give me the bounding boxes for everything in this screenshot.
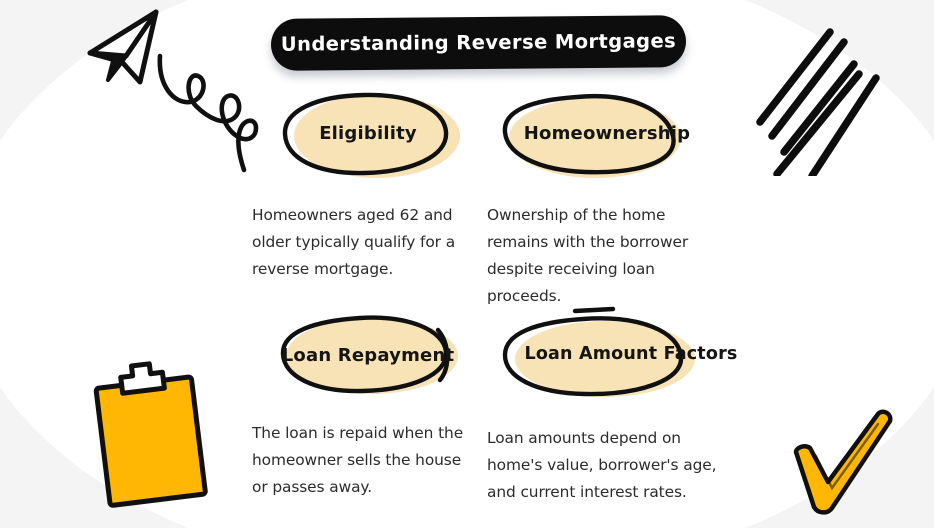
infographic-canvas: Understanding Reverse Mortgages Eligibil… [0, 0, 934, 528]
card-homeownership[interactable]: Homeownership Ownership of the home rema… [487, 88, 727, 310]
card-body: Loan amounts depend on home's value, bor… [487, 425, 727, 506]
page-title: Understanding Reverse Mortgages [271, 17, 686, 69]
title-pill: Understanding Reverse Mortgages [271, 15, 686, 71]
card-loan-repayment[interactable]: Loan Repayment The loan is repaid when t… [252, 310, 484, 501]
card-loan-amount-factors[interactable]: Loan Amount Factors Loan amounts depend … [487, 305, 727, 506]
bubble-loan-repayment[interactable]: Loan Repayment [252, 310, 484, 402]
card-grid: Eligibility Homeowners aged 62 and older… [0, 0, 934, 528]
title-text: Understanding Reverse Mortgages [281, 29, 676, 57]
bubble-homeownership[interactable]: Homeownership [487, 88, 727, 180]
bubble-eligibility[interactable]: Eligibility [252, 88, 484, 180]
card-body: The loan is repaid when the homeowner se… [252, 420, 474, 501]
card-eligibility[interactable]: Eligibility Homeowners aged 62 and older… [252, 88, 484, 283]
card-body: Homeowners aged 62 and older typically q… [252, 202, 484, 283]
bubble-loan-amount-factors[interactable]: Loan Amount Factors [487, 305, 727, 405]
card-body: Ownership of the home remains with the b… [487, 202, 727, 310]
